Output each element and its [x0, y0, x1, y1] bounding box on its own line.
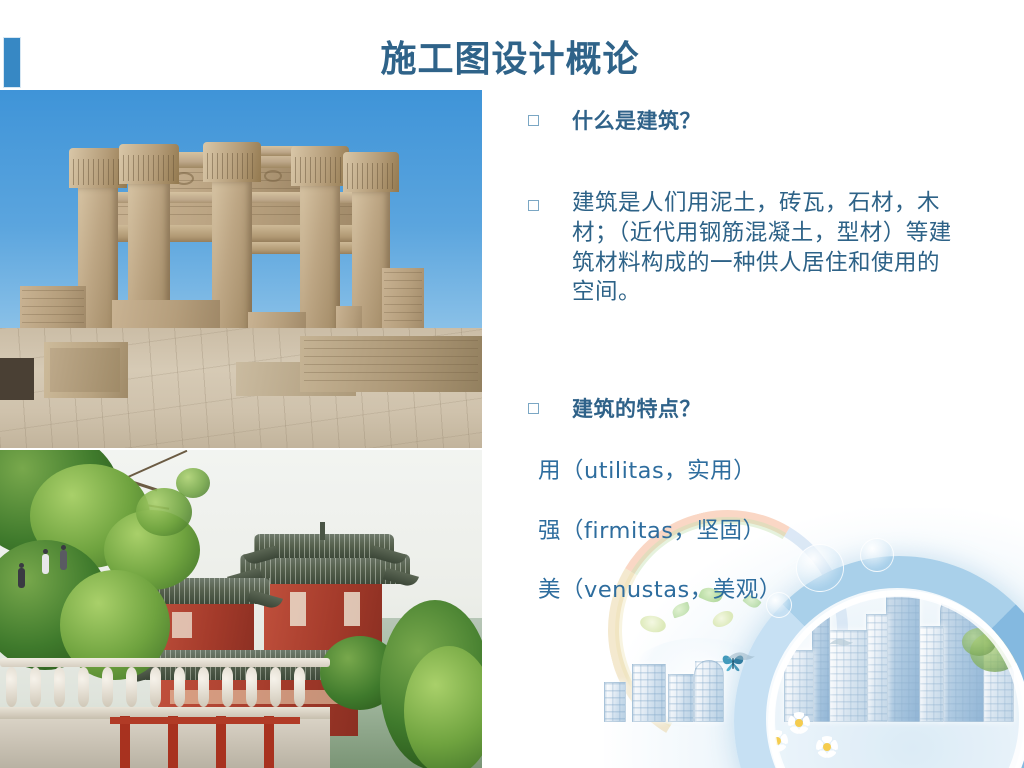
chinese-temple-photo — [0, 450, 482, 768]
bullet-item-architecture-definition: 建筑是人们用泥土，砖瓦，石材，木材；（近代用钢筋混凝土，型材）等建筑材料构成的一… — [528, 189, 988, 308]
person-figure — [42, 554, 49, 574]
title-accent-bar — [3, 37, 21, 88]
flower-icon — [740, 702, 762, 724]
spacer — [528, 308, 988, 396]
spacer — [528, 135, 988, 189]
square-bullet-icon — [528, 115, 539, 126]
bullet-item-architecture-features: 建筑的特点？ — [528, 396, 988, 423]
spacer — [528, 423, 988, 460]
bullet-item-what-is-architecture: 什么是建筑？ — [528, 108, 988, 135]
person-figure — [18, 568, 25, 588]
term-utilitas: 用（utilitas，实用） — [538, 460, 988, 483]
bird-icon — [726, 650, 756, 662]
paragraph-architecture-definition: 建筑是人们用泥土，砖瓦，石材，木材；（近代用钢筋混凝土，型材）等建筑材料构成的一… — [572, 189, 962, 308]
content-column: 什么是建筑？ 建筑是人们用泥土，砖瓦，石材，木材；（近代用钢筋混凝土，型材）等建… — [528, 108, 988, 602]
heading-what-is-architecture: 什么是建筑？ — [572, 108, 701, 135]
egyptian-temple-photo — [0, 90, 482, 448]
petal-icon — [710, 608, 736, 631]
flower-icon — [816, 736, 838, 758]
bird-icon — [828, 636, 854, 648]
spacer — [528, 483, 988, 520]
petal-icon — [639, 613, 668, 634]
page-title: 施工图设计概论 — [330, 38, 690, 81]
tree-icon — [962, 628, 996, 656]
term-firmitas: 强（firmitas，坚固） — [538, 520, 988, 543]
flower-icon — [766, 730, 788, 752]
person-figure — [60, 550, 67, 570]
slide-canvas: 施工图设计概论 — [0, 0, 1024, 768]
stone-balustrade — [0, 658, 330, 768]
term-venustas: 美（venustas，美观） — [538, 579, 988, 602]
tree-icon — [970, 632, 1020, 672]
blue-ring-inner-graphic — [766, 588, 1024, 768]
heading-architecture-features: 建筑的特点？ — [572, 396, 701, 423]
spacer — [528, 542, 988, 579]
cloud-icon — [754, 628, 874, 698]
square-bullet-icon — [528, 403, 539, 414]
square-bullet-icon — [528, 200, 539, 211]
flower-icon — [788, 712, 810, 734]
leaf-icon — [671, 602, 692, 619]
